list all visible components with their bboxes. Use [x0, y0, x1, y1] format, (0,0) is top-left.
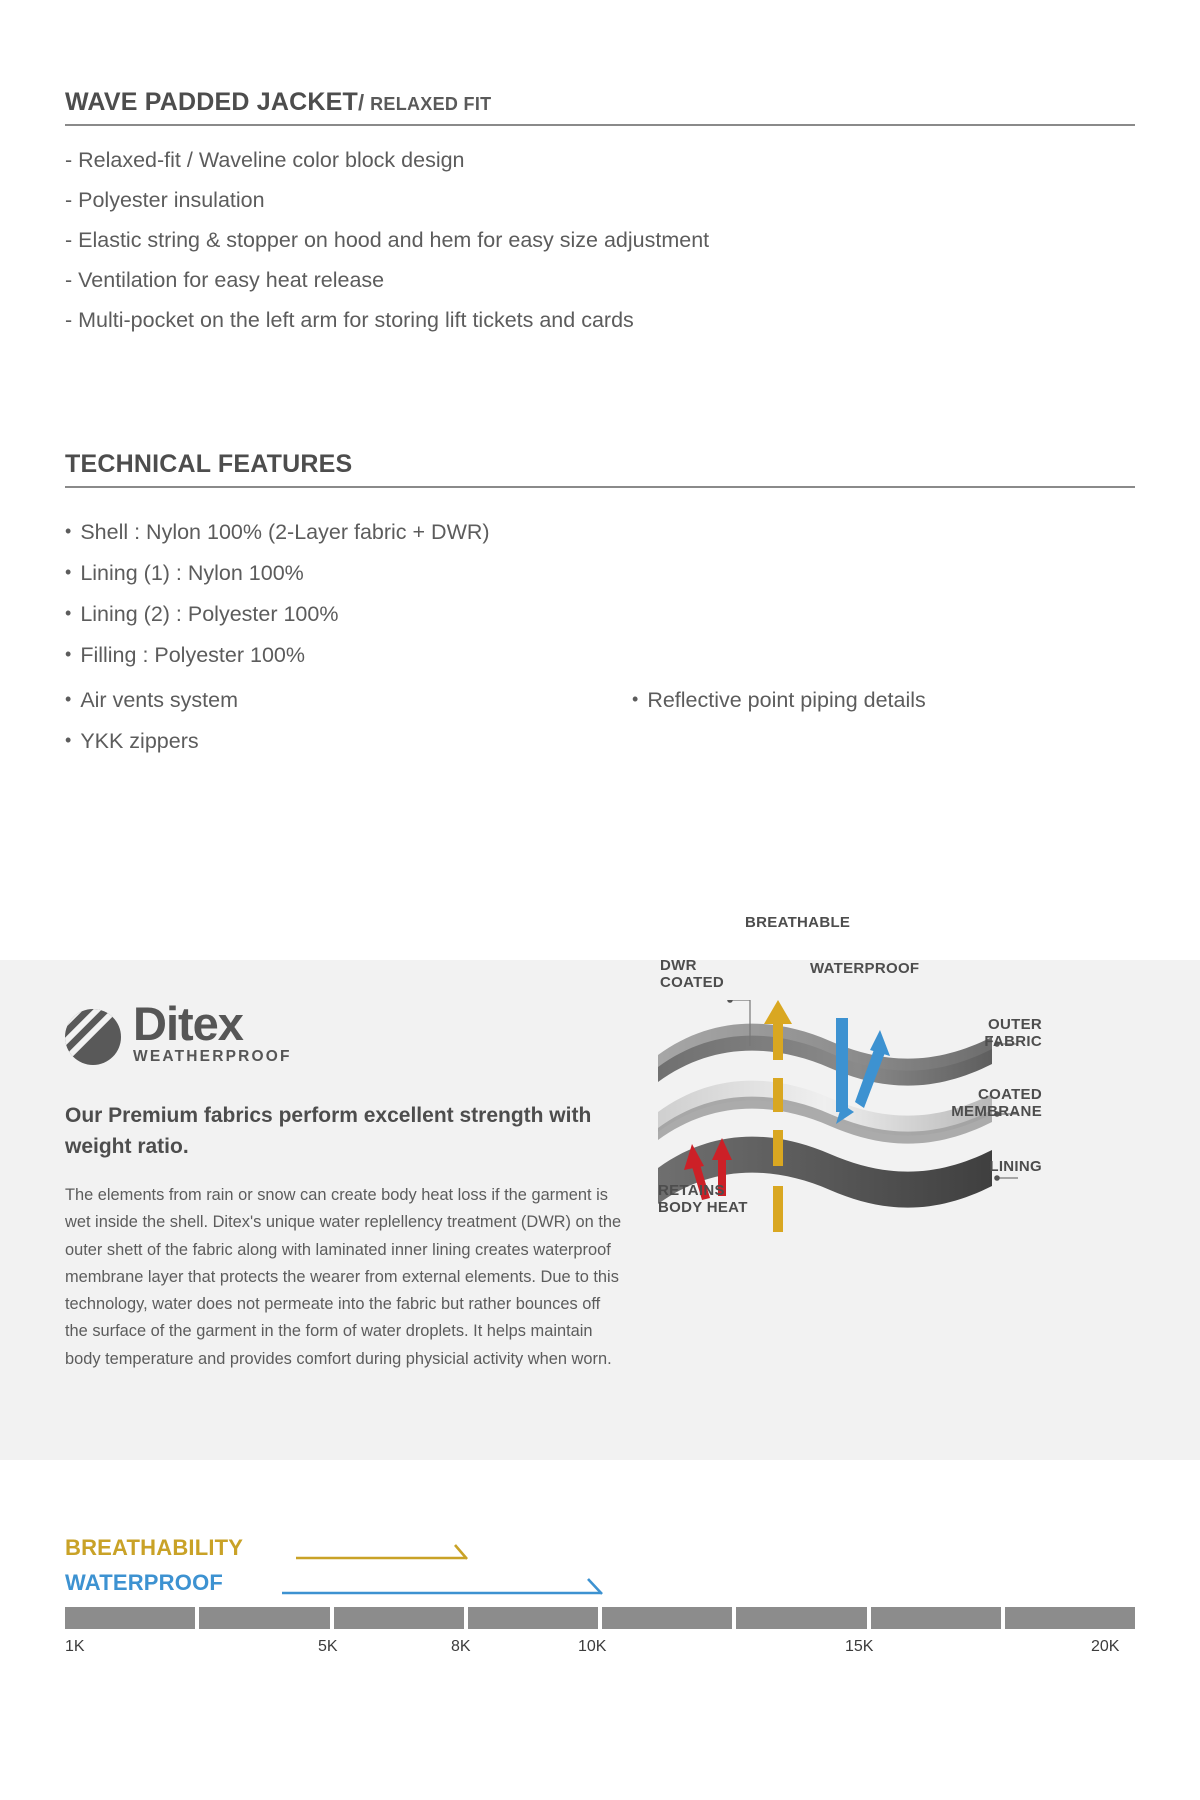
- extra-feature-text: Reflective point piping details: [647, 688, 925, 712]
- bullet-icon: •: [65, 562, 71, 582]
- waterproof-arrow-line-icon: [282, 1579, 602, 1594]
- bar-segment: [1005, 1607, 1135, 1629]
- bar-segment: [334, 1607, 464, 1629]
- list-item: •Filling : Polyester 100%: [65, 635, 490, 676]
- scale-tick: 15K: [845, 1638, 873, 1656]
- brand-name: Ditex: [133, 1000, 292, 1047]
- brand-paragraph: The elements from rain or snow can creat…: [65, 1182, 627, 1373]
- list-item: - Elastic string & stopper on hood and h…: [65, 220, 709, 260]
- list-item: •YKK zippers: [65, 721, 238, 762]
- bullet-icon: •: [65, 644, 71, 664]
- ditex-logo: Ditex WEATHERPROOF: [65, 1000, 292, 1065]
- bullet-icon: •: [65, 730, 71, 750]
- bullet-icon: •: [65, 521, 71, 541]
- scale-bar: [65, 1607, 1135, 1629]
- product-fit-label: RELAXED FIT: [370, 94, 491, 114]
- scale-tick: 10K: [578, 1638, 606, 1656]
- product-feature-list: - Relaxed-fit / Waveline color block des…: [65, 140, 709, 340]
- list-item: •Air vents system: [65, 680, 238, 721]
- lining-label: LINING: [932, 1158, 1042, 1175]
- list-item: - Ventilation for easy heat release: [65, 260, 709, 300]
- product-title-header: WAVE PADDED JACKET/RELAXED FIT: [65, 88, 1135, 126]
- list-item: •Lining (2) : Polyester 100%: [65, 594, 490, 635]
- bar-segment: [199, 1607, 329, 1629]
- bar-segment: [468, 1607, 598, 1629]
- bullet-icon: •: [632, 689, 638, 709]
- bar-segment: [736, 1607, 866, 1629]
- fabric-layer-diagram: BREATHABLE WATERPROOF DWR COATED OUTER F…: [640, 1000, 1060, 1260]
- material-text: Lining (2) : Polyester 100%: [80, 602, 338, 626]
- list-item: •Shell : Nylon 100% (2-Layer fabric + DW…: [65, 512, 490, 553]
- extra-features-right-list: •Reflective point piping details: [632, 680, 926, 721]
- bar-segment: [65, 1607, 195, 1629]
- bar-segment: [871, 1607, 1001, 1629]
- list-item: •Reflective point piping details: [632, 680, 926, 721]
- scale-tick: 5K: [318, 1638, 338, 1656]
- material-text: Lining (1) : Nylon 100%: [80, 561, 303, 585]
- extra-feature-text: YKK zippers: [80, 729, 198, 753]
- outer-fabric-label: OUTER FABRIC: [932, 1016, 1042, 1050]
- waterproof-label: WATERPROOF: [810, 960, 919, 977]
- brand-tagline: WEATHERPROOF: [133, 1049, 292, 1065]
- feature-text: - Ventilation for easy heat release: [65, 268, 384, 292]
- scale-tick: 20K: [1091, 1638, 1119, 1656]
- list-item: - Multi-pocket on the left arm for stori…: [65, 300, 709, 340]
- extra-features-left-list: •Air vents system •YKK zippers: [65, 680, 238, 762]
- breathability-arrow-icon: [296, 1545, 467, 1559]
- feature-text: - Multi-pocket on the left arm for stori…: [65, 308, 634, 332]
- bar-segment: [602, 1607, 732, 1629]
- material-text: Filling : Polyester 100%: [80, 643, 305, 667]
- list-item: - Polyester insulation: [65, 180, 709, 220]
- coated-membrane-label: COATED MEMBRANE: [912, 1086, 1042, 1120]
- bullet-icon: •: [65, 689, 71, 709]
- extra-feature-text: Air vents system: [80, 688, 238, 712]
- feature-text: - Polyester insulation: [65, 188, 265, 212]
- feature-text: - Elastic string & stopper on hood and h…: [65, 228, 709, 252]
- scale-arrows-svg: [0, 1480, 1200, 1620]
- page-title: WAVE PADDED JACKET: [65, 88, 358, 116]
- dwr-coated-label: DWR COATED: [660, 957, 724, 991]
- scale-tick: 8K: [451, 1638, 471, 1656]
- materials-list: •Shell : Nylon 100% (2-Layer fabric + DW…: [65, 512, 490, 676]
- brand-headline: Our Premium fabrics perform excellent st…: [65, 1100, 625, 1162]
- retains-body-heat-label: RETAINS BODY HEAT: [658, 1182, 748, 1216]
- ditex-mark-icon: [65, 1009, 121, 1065]
- scale-tick: 1K: [65, 1638, 85, 1656]
- list-item: - Relaxed-fit / Waveline color block des…: [65, 140, 709, 180]
- feature-text: - Relaxed-fit / Waveline color block des…: [65, 148, 465, 172]
- section-title: TECHNICAL FEATURES: [65, 450, 352, 478]
- title-separator: /: [358, 90, 364, 115]
- spec-sheet-page: WAVE PADDED JACKET/RELAXED FIT - Relaxed…: [0, 0, 1200, 1800]
- list-item: •Lining (1) : Nylon 100%: [65, 553, 490, 594]
- breathable-label: BREATHABLE: [745, 914, 850, 931]
- bullet-icon: •: [65, 603, 71, 623]
- technical-features-header: TECHNICAL FEATURES: [65, 450, 1135, 488]
- material-text: Shell : Nylon 100% (2-Layer fabric + DWR…: [80, 520, 489, 544]
